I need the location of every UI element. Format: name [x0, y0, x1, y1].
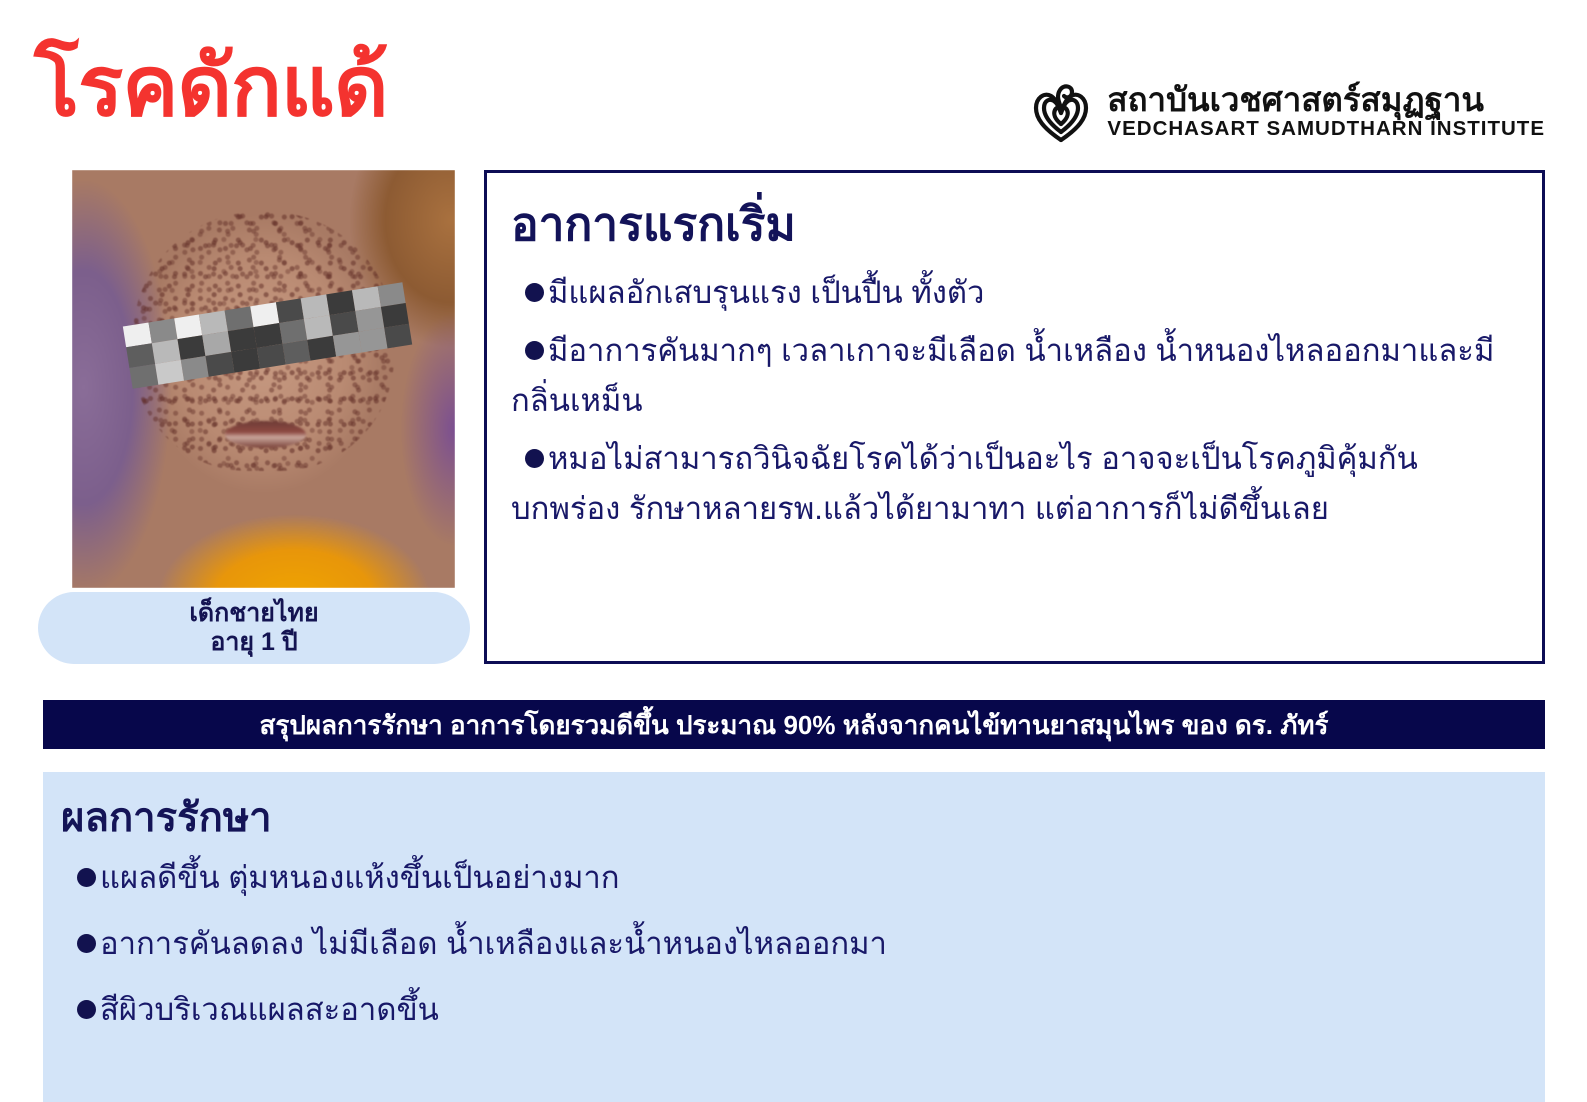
logo-thai-name: สถาบันเวชศาสตร์สมุฏฐาน	[1107, 83, 1545, 116]
result-text: แผลดีขึ้น ตุ่มหนองแห้งขึ้นเป็นอย่างมาก	[100, 860, 620, 895]
result-text: อาการคันลดลง ไม่มีเลือด น้ำเหลืองและน้ำห…	[100, 926, 887, 961]
result-item: สีผิวบริเวณแผลสะอาดขึ้น	[61, 986, 1515, 1034]
patient-caption-line-2: อายุ 1 ปี	[210, 628, 297, 658]
mouth-detail	[225, 421, 305, 448]
bullet-dot-icon	[525, 341, 544, 360]
bullet-dot-icon	[77, 934, 96, 953]
symptom-text: หมอไม่สามารถวินิจฉัยโรคได้ว่าเป็นอะไร อา…	[511, 441, 1418, 526]
institute-emblem-icon	[1029, 78, 1093, 144]
results-heading: ผลการรักษา	[61, 796, 1515, 840]
bullet-dot-icon	[77, 868, 96, 887]
bullet-dot-icon	[525, 283, 544, 302]
treatment-summary-bar: สรุปผลการรักษา อาการโดยรวมดีขึ้น ประมาณ …	[43, 700, 1545, 749]
institute-logo: สถาบันเวชศาสตร์สมุฏฐาน VEDCHASART SAMUDT…	[1029, 78, 1545, 144]
symptoms-panel: อาการแรกเริ่ม มีแผลอักเสบรุนแรง เป็นปื้น…	[484, 170, 1545, 664]
logo-english-name: VEDCHASART SAMUDTHARN INSTITUTE	[1107, 119, 1545, 140]
patient-photo	[72, 170, 455, 588]
result-item: อาการคันลดลง ไม่มีเลือด น้ำเหลืองและน้ำห…	[61, 920, 1515, 968]
infographic-page: โรคดักแด้ สถาบันเวชศาสตร์สมุฏฐาน VEDCHAS…	[0, 0, 1587, 1102]
symptom-item: มีแผลอักเสบรุนแรง เป็นปื้น ทั้งตัว	[511, 268, 1520, 318]
symptom-item: มีอาการคันมากๆ เวลาเกาจะมีเลือด น้ำเหลือ…	[511, 326, 1520, 426]
patient-caption-line-1: เด็กชายไทย	[189, 599, 318, 629]
results-panel: ผลการรักษา แผลดีขึ้น ตุ่มหนองแห้งขึ้นเป็…	[43, 772, 1545, 1102]
page-title: โรคดักแด้	[34, 42, 388, 130]
symptoms-heading: อาการแรกเริ่ม	[511, 199, 1520, 250]
result-item: แผลดีขึ้น ตุ่มหนองแห้งขึ้นเป็นอย่างมาก	[61, 854, 1515, 902]
bullet-dot-icon	[77, 1000, 96, 1019]
bullet-dot-icon	[525, 449, 544, 468]
symptom-item: หมอไม่สามารถวินิจฉัยโรคได้ว่าเป็นอะไร อา…	[511, 434, 1520, 534]
result-text: สีผิวบริเวณแผลสะอาดขึ้น	[100, 992, 439, 1027]
treatment-summary-text: สรุปผลการรักษา อาการโดยรวมดีขึ้น ประมาณ …	[260, 712, 1329, 738]
patient-caption: เด็กชายไทย อายุ 1 ปี	[38, 592, 470, 664]
symptom-text: มีอาการคันมากๆ เวลาเกาจะมีเลือด น้ำเหลือ…	[511, 333, 1494, 418]
symptom-text: มีแผลอักเสบรุนแรง เป็นปื้น ทั้งตัว	[548, 275, 984, 310]
